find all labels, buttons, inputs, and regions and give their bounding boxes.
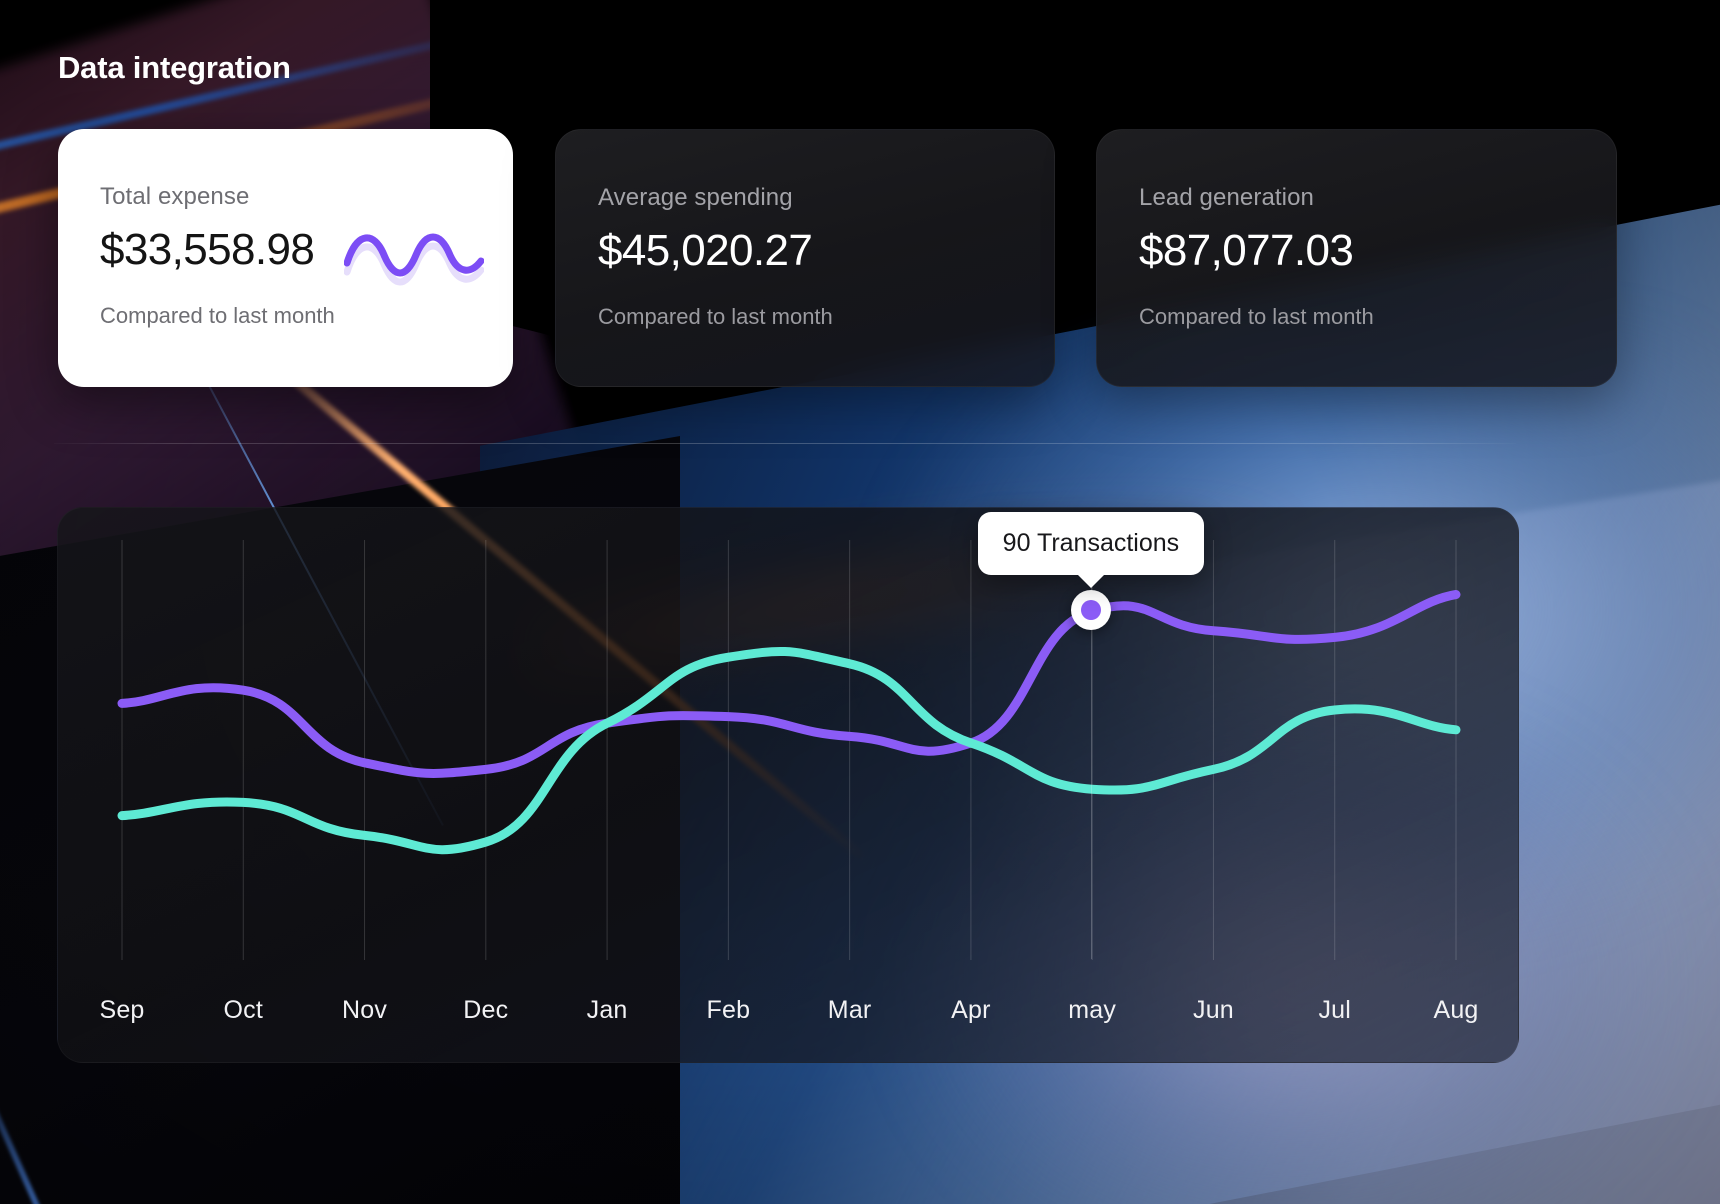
chart-x-tick-jan: Jan [587, 996, 628, 1025]
chart-tooltip[interactable]: 90 Transactions [978, 512, 1205, 575]
metric-card-average-spending[interactable]: Average spending $45,020.27 Compared to … [555, 129, 1055, 387]
chart-highlight-marker[interactable] [1071, 590, 1111, 630]
line-chart[interactable] [58, 508, 1519, 978]
chart-x-tick-jun: Jun [1193, 996, 1234, 1025]
chart-x-tick-mar: Mar [828, 996, 872, 1025]
chart-x-tick-dec: Dec [463, 996, 508, 1025]
page-title: Data integration [58, 50, 291, 86]
chart-x-tick-may: may [1068, 996, 1116, 1025]
chart-x-tick-aug: Aug [1433, 996, 1478, 1025]
metric-card-total-expense[interactable]: Total expense $33,558.98 Compared to las… [58, 129, 513, 387]
chart-panel: SepOctNovDecJanFebMarAprmayJunJulAug [57, 507, 1519, 1063]
metric-card-subtitle: Compared to last month [1139, 304, 1616, 330]
metric-card-subtitle: Compared to last month [100, 303, 513, 329]
metric-card-value: $45,020.27 [598, 226, 1054, 276]
chart-x-tick-apr: Apr [951, 996, 991, 1025]
chart-x-tick-sep: Sep [99, 996, 144, 1025]
metric-card-label: Total expense [100, 183, 513, 211]
metric-card-label: Average spending [598, 184, 1054, 212]
metric-card-lead-generation[interactable]: Lead generation $87,077.03 Compared to l… [1096, 129, 1617, 387]
chart-x-axis: SepOctNovDecJanFebMarAprmayJunJulAug [58, 996, 1519, 1040]
sparkline-wave-icon [344, 225, 484, 287]
metric-card-subtitle: Compared to last month [598, 304, 1054, 330]
chart-x-tick-jul: Jul [1318, 996, 1351, 1025]
metric-card-value: $87,077.03 [1139, 226, 1616, 276]
chart-line-spending [122, 651, 1456, 849]
chart-x-tick-feb: Feb [707, 996, 751, 1025]
section-divider [54, 443, 1516, 444]
metric-card-label: Lead generation [1139, 184, 1616, 212]
chart-x-tick-oct: Oct [224, 996, 264, 1025]
chart-x-tick-nov: Nov [342, 996, 387, 1025]
metric-cards-row: Total expense $33,558.98 Compared to las… [58, 129, 1517, 389]
